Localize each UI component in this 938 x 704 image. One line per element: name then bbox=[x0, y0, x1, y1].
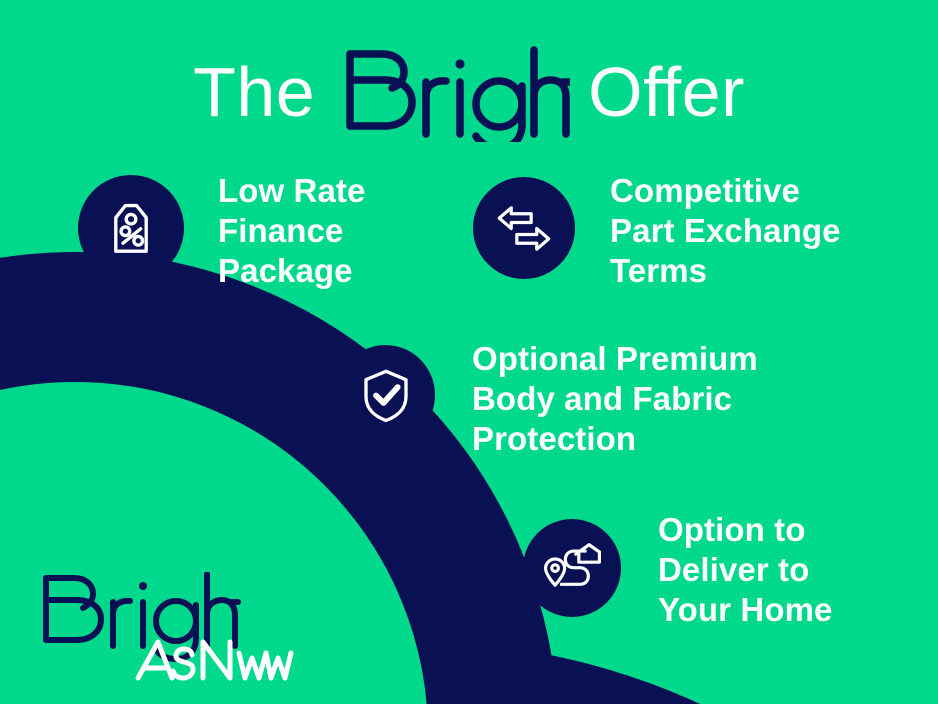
feature-label: Option to Deliver to Your Home bbox=[658, 510, 832, 630]
page-title: The bbox=[0, 44, 938, 140]
logo-asnew-wordmark bbox=[138, 642, 291, 678]
navy-wedge-shape bbox=[497, 648, 700, 704]
feature-label: Optional Premium Body and Fabric Protect… bbox=[472, 339, 758, 459]
bright-wordmark-icon bbox=[334, 46, 570, 142]
feature-icon-badge bbox=[473, 177, 575, 279]
feature-label: Competitive Part Exchange Terms bbox=[610, 171, 841, 291]
feature-item-body-fabric-protection: Optional Premium Body and Fabric Protect… bbox=[336, 345, 758, 459]
logo-bright-i-dot bbox=[139, 582, 147, 590]
promo-graphic: The bbox=[0, 0, 938, 704]
headline-suffix: Offer bbox=[588, 53, 745, 131]
brand-logo-bright-as-new bbox=[40, 572, 300, 682]
feature-item-part-exchange: Competitive Part Exchange Terms bbox=[473, 177, 841, 291]
map-pin-road-house-icon bbox=[544, 543, 601, 594]
shield-check-icon bbox=[361, 368, 411, 423]
feature-icon-badge bbox=[336, 345, 435, 445]
feature-icon-badge bbox=[78, 175, 184, 281]
feature-item-home-delivery: Option to Deliver to Your Home bbox=[523, 519, 832, 630]
feature-label: Low Rate Finance Package bbox=[218, 171, 365, 291]
exchange-arrows-icon bbox=[496, 203, 552, 254]
headline-prefix: The bbox=[193, 53, 315, 131]
feature-item-low-rate-finance: Low Rate Finance Package bbox=[78, 175, 365, 291]
feature-icon-badge bbox=[523, 519, 621, 617]
price-tag-percent-icon bbox=[106, 200, 156, 256]
